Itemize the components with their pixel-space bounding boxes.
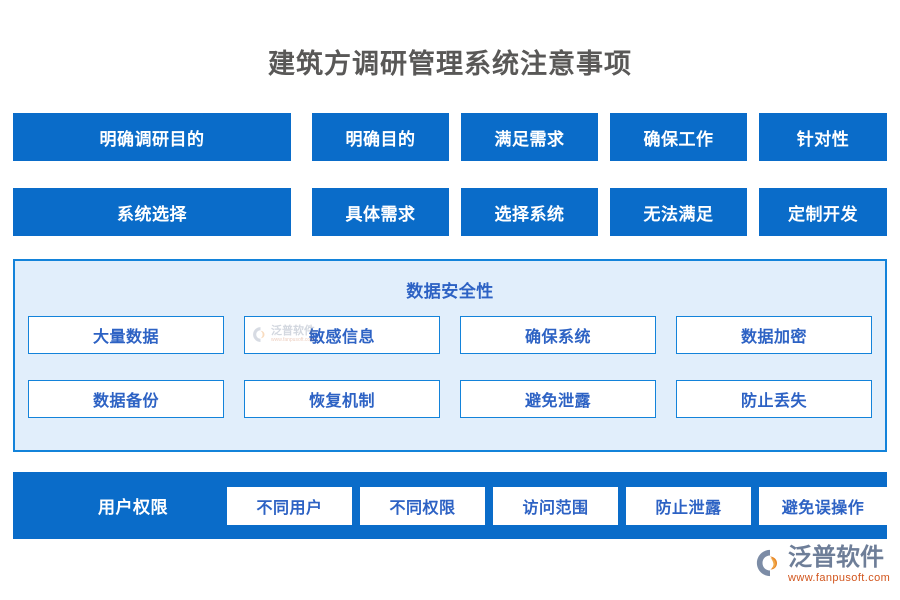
permission-box-3[interactable]: 防止泄露: [626, 487, 751, 525]
row-system-selection: 系统选择具体需求选择系统无法满足定制开发: [13, 188, 887, 236]
logo-website-url: www.fanpusoft.com: [788, 573, 890, 584]
panel-box-3[interactable]: 数据加密: [676, 316, 872, 354]
permission-box-2[interactable]: 访问范围: [493, 487, 618, 525]
panel-box-5[interactable]: 恢复机制: [244, 380, 440, 418]
logo-company-name: 泛普软件: [788, 546, 890, 570]
fanpu-logo-icon: [755, 548, 785, 578]
chip-row-research-purpose-0[interactable]: 明确调研目的: [13, 113, 291, 161]
chip-row-system-selection-3[interactable]: 无法满足: [610, 188, 747, 236]
chip-row-research-purpose-4[interactable]: 针对性: [759, 113, 887, 161]
panel-box-0[interactable]: 大量数据: [28, 316, 224, 354]
logo-text-block: 泛普软件 www.fanpusoft.com: [788, 546, 890, 584]
user-permission-label: 用户权限: [68, 472, 198, 539]
infographic-page: 建筑方调研管理系统注意事项 明确调研目的明确目的满足需求确保工作针对性 系统选择…: [0, 0, 900, 600]
chip-row-system-selection-1[interactable]: 具体需求: [312, 188, 449, 236]
chip-row-system-selection-2[interactable]: 选择系统: [461, 188, 598, 236]
user-permission-bar: 用户权限 不同用户不同权限访问范围防止泄露避免误操作: [13, 472, 887, 539]
panel-box-1[interactable]: 敏感信息: [244, 316, 440, 354]
page-title: 建筑方调研管理系统注意事项: [0, 42, 900, 81]
row-research-purpose: 明确调研目的明确目的满足需求确保工作针对性: [13, 113, 887, 161]
permission-box-0[interactable]: 不同用户: [227, 487, 352, 525]
chip-row-research-purpose-2[interactable]: 满足需求: [461, 113, 598, 161]
panel-box-6[interactable]: 避免泄露: [460, 380, 656, 418]
panel-title: 数据安全性: [15, 277, 885, 302]
permission-box-4[interactable]: 避免误操作: [759, 487, 887, 525]
panel-box-4[interactable]: 数据备份: [28, 380, 224, 418]
panel-box-2[interactable]: 确保系统: [460, 316, 656, 354]
chip-row-system-selection-0[interactable]: 系统选择: [13, 188, 291, 236]
permission-box-1[interactable]: 不同权限: [360, 487, 485, 525]
panel-box-7[interactable]: 防止丢失: [676, 380, 872, 418]
brand-logo: 泛普软件 www.fanpusoft.com: [755, 546, 890, 584]
data-security-panel: 数据安全性 大量数据敏感信息泛普软件www.fanpusoft.com确保系统数…: [13, 259, 887, 452]
chip-row-research-purpose-3[interactable]: 确保工作: [610, 113, 747, 161]
chip-row-system-selection-4[interactable]: 定制开发: [759, 188, 887, 236]
chip-row-research-purpose-1[interactable]: 明确目的: [312, 113, 449, 161]
